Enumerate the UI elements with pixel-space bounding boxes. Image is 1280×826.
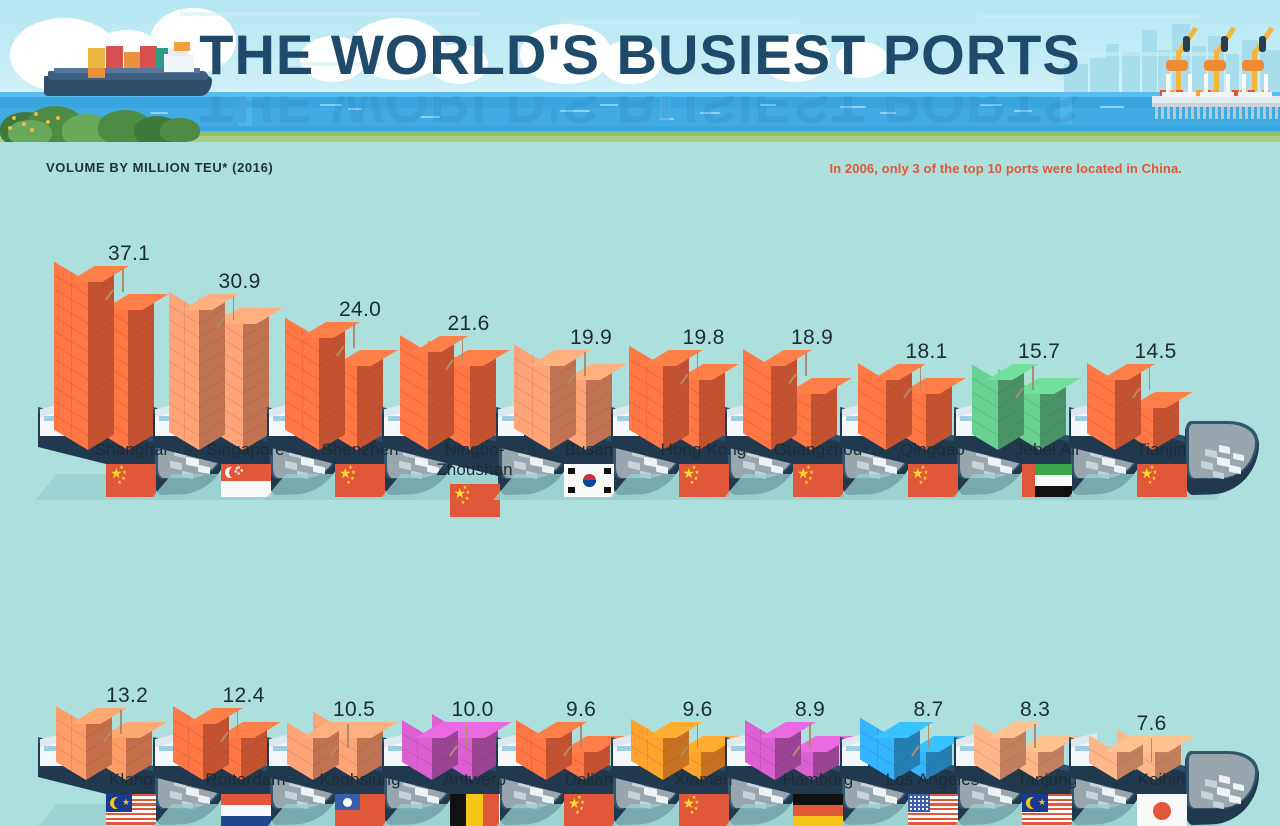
leader-line (233, 296, 235, 320)
container-seam (998, 406, 1024, 423)
container-seam (972, 406, 998, 423)
container-seam (886, 392, 912, 409)
container-seam (470, 420, 496, 437)
container-seam (550, 406, 576, 423)
container-seam (470, 392, 496, 409)
container-seam (858, 418, 886, 436)
flag-star (922, 804, 924, 806)
value-label: 19.8 (683, 326, 725, 350)
container-seam (428, 406, 454, 423)
container-seam (88, 322, 114, 339)
flag-band (221, 816, 271, 826)
container-seam (199, 322, 225, 339)
flag-star: ★ (575, 811, 580, 817)
flag-cn: ★★★★★ (1137, 464, 1187, 497)
flag-star (918, 800, 920, 802)
port-row-2: 13.2Klang★12.4Rotterdam10.5Kaohsiung10.0… (0, 508, 1280, 826)
container-seam (1153, 420, 1179, 437)
container-seam (546, 750, 572, 767)
container-top-face (299, 322, 360, 338)
container-seam (88, 364, 114, 381)
container-seam (470, 378, 496, 395)
port-name-label: Keihin (1067, 770, 1257, 790)
container-seam (313, 750, 339, 767)
flag-star (914, 804, 916, 806)
flag-band (221, 794, 271, 805)
container-seam (811, 406, 837, 423)
value-label: 8.9 (795, 698, 825, 722)
flag-star (926, 796, 928, 798)
container-seam (428, 392, 454, 409)
container-seam (428, 364, 454, 381)
container-seam (550, 392, 576, 409)
flag-star: ★ (117, 481, 122, 487)
leader-line (1034, 724, 1036, 748)
flag-star (914, 796, 916, 798)
leader-line (466, 724, 468, 748)
container-seam (663, 406, 689, 423)
container-seam (86, 750, 112, 767)
flag-star (922, 800, 924, 802)
container-top-face (413, 336, 468, 352)
leader-line (805, 352, 807, 376)
china-note: In 2006, only 3 of the top 10 ports were… (829, 161, 1182, 176)
container-seam (663, 420, 689, 437)
flag-star: ★ (235, 467, 239, 472)
container-seam (663, 378, 689, 395)
container-seam (432, 750, 458, 767)
container-top-face (871, 364, 926, 380)
volume-subtitle: VOLUME BY MILLION TEU* (2016) (46, 160, 273, 175)
container-seam (743, 404, 771, 422)
container-column (169, 302, 199, 458)
value-label: 10.5 (333, 698, 375, 722)
leader-line (580, 724, 582, 748)
page-title-reflection: THE WORLD'S BUSIEST PORTS (0, 96, 1280, 136)
flag-star: ★ (690, 481, 695, 487)
flag-sg: ★★★★★ (221, 464, 271, 497)
flag-stripe (106, 813, 156, 815)
container-seam (319, 392, 345, 409)
container-seam (972, 392, 998, 409)
container-seam (1040, 420, 1066, 437)
flag-band (221, 805, 271, 816)
container-seam (1115, 406, 1141, 423)
container-seam (428, 420, 454, 437)
flag-sun (1153, 802, 1171, 820)
flag-be (450, 794, 500, 826)
flag-stripe (1022, 822, 1072, 824)
container-seam (663, 392, 689, 409)
flag-cn: ★★★★★ (908, 464, 958, 497)
container-seam (532, 355, 533, 440)
flag-jp (1137, 794, 1187, 826)
container-seam (319, 364, 345, 381)
container-column (54, 274, 88, 458)
container-seam (203, 736, 229, 753)
flag-sun (343, 798, 352, 807)
value-label: 9.6 (683, 698, 713, 722)
container-seam (88, 336, 114, 353)
flag-my: ★ (106, 794, 156, 826)
container-seam (199, 350, 225, 367)
container-top-face (182, 294, 239, 310)
container-seam (71, 272, 72, 441)
value-label: 13.2 (106, 684, 148, 708)
container-seam (126, 750, 152, 767)
container-top-face (986, 364, 1039, 380)
container-seam (88, 392, 114, 409)
container-seam (1115, 420, 1141, 437)
flag-stripe (908, 818, 958, 820)
container-seam (1087, 418, 1115, 436)
container-front-face (400, 335, 428, 450)
leader-line (928, 724, 930, 748)
leader-line (122, 268, 124, 292)
container-seam (88, 350, 114, 367)
value-label: 7.6 (1137, 712, 1167, 736)
container-seam (199, 364, 225, 381)
flag-cn: ★★★★★ (793, 464, 843, 497)
flag-star (910, 808, 912, 810)
container-side-face (319, 323, 345, 451)
leader-line (809, 724, 811, 748)
value-label: 30.9 (219, 270, 261, 294)
flag-trigram (568, 487, 575, 493)
container-seam (699, 392, 725, 409)
flag-star (910, 800, 912, 802)
flag-nl (221, 794, 271, 826)
container-seam (771, 392, 797, 409)
container-seam (811, 420, 837, 437)
container-seam (646, 356, 647, 441)
container-seam (287, 750, 313, 767)
container-seam (199, 392, 225, 409)
container-seam (319, 350, 345, 367)
value-label: 9.6 (566, 698, 596, 722)
container-seam (886, 406, 912, 423)
value-label: 18.9 (791, 326, 833, 350)
flag-star: ★ (461, 501, 466, 507)
value-label: 37.1 (108, 242, 150, 266)
port-item-tianjin: 14.5Tianjin★★★★★ (1067, 178, 1257, 508)
leader-line (237, 710, 239, 734)
flag-band (450, 794, 467, 826)
container-seam (470, 406, 496, 423)
container-seam (743, 418, 771, 436)
container-seam (894, 750, 920, 767)
flag-ae (1022, 464, 1072, 497)
flag-stripe (106, 822, 156, 824)
container-top-face (68, 266, 129, 282)
container-seam (771, 406, 797, 423)
value-label: 19.9 (570, 326, 612, 350)
container-seam (88, 378, 114, 395)
leader-line (120, 710, 122, 734)
flag-cn: ★★★★★ (106, 464, 156, 497)
flag-star (926, 804, 928, 806)
flag-taegeuk (583, 480, 596, 487)
flag-stripe (1022, 813, 1072, 815)
flag-band (1022, 464, 1035, 497)
leader-line (353, 324, 355, 348)
container-seam (319, 378, 345, 395)
flag-cn: ★★★★★ (679, 794, 729, 826)
leader-line (920, 366, 922, 390)
flag-cn: ★★★★★ (335, 464, 385, 497)
port-item-keihin: 7.6Keihin (1067, 508, 1257, 826)
flag-star: ★ (122, 798, 130, 807)
container-seam (319, 406, 345, 423)
container-seam (88, 294, 114, 311)
value-label: 18.1 (906, 340, 948, 364)
container-seam (974, 750, 1000, 767)
container-seam (743, 376, 771, 394)
value-label: 8.3 (1020, 698, 1050, 722)
container-seam (998, 392, 1024, 409)
flag-stripe (908, 822, 958, 824)
container-seam (199, 378, 225, 395)
leader-line (1151, 738, 1153, 762)
container-seam (400, 418, 428, 436)
container-side-face (199, 295, 225, 451)
flag-band (793, 805, 843, 816)
flag-cn: ★★★★★ (679, 464, 729, 497)
flag-stripe (908, 813, 958, 815)
flag-star (926, 800, 928, 802)
value-label: 12.4 (223, 684, 265, 708)
flag-star (910, 804, 912, 806)
leader-line (584, 352, 586, 376)
container-seam (550, 420, 576, 437)
flag-band (466, 794, 483, 826)
port-row-1: 37.1Shanghai★★★★★30.9Singapore★★★★★24.0S… (0, 178, 1280, 508)
page-title: THE WORLD'S BUSIEST PORTS (0, 22, 1280, 87)
container-seam (1000, 750, 1026, 767)
value-label: 24.0 (339, 298, 381, 322)
flag-band (793, 816, 843, 826)
flag-us (908, 794, 958, 826)
flag-star: ★ (690, 811, 695, 817)
container-seam (86, 736, 112, 753)
container-seam (302, 328, 303, 441)
container-seam (926, 420, 952, 437)
infographic-root: THE WORLD'S BUSIEST PORTS THE WORLD'S BU… (0, 0, 1280, 826)
container-side-face (428, 337, 454, 451)
flag-band (221, 481, 271, 498)
container-seam (1115, 392, 1141, 409)
container-seam (1040, 406, 1066, 423)
flag-star (914, 800, 916, 802)
flag-star (926, 808, 928, 810)
flag-star: ★ (346, 481, 351, 487)
container-seam (972, 420, 998, 437)
flag-de (793, 794, 843, 826)
container-seam (319, 420, 345, 437)
container-seam (241, 750, 267, 767)
container-seam (203, 750, 229, 767)
container-seam (88, 308, 114, 325)
container-seam (88, 406, 114, 423)
flag-star: ★ (1148, 481, 1153, 487)
container-seam (663, 750, 689, 767)
container-seam (199, 420, 225, 437)
container-seam (771, 420, 797, 437)
container-top-face (757, 350, 812, 366)
container-seam (743, 390, 771, 408)
container-seam (926, 406, 952, 423)
value-label: 10.0 (452, 698, 494, 722)
container-seam (428, 378, 454, 395)
flag-stripe (1022, 818, 1072, 820)
flag-kr (564, 464, 614, 497)
value-label: 21.6 (448, 312, 490, 336)
flag-star (910, 796, 912, 798)
flag-star: ★ (1038, 798, 1046, 807)
sky-stripe (980, 14, 1200, 18)
container-seam (199, 336, 225, 353)
container-top-face (1100, 364, 1155, 380)
leader-line (697, 352, 699, 376)
port-name-label: Tianjin (1067, 440, 1257, 460)
container-front-face (54, 262, 88, 450)
flag-trigram (568, 468, 575, 474)
container-seam (699, 406, 725, 423)
flag-star (922, 796, 924, 798)
container-column (285, 330, 319, 458)
flag-cn: ★★★★★ (564, 794, 614, 826)
container-seam (775, 750, 801, 767)
container-seam (771, 378, 797, 395)
flag-star (918, 796, 920, 798)
leader-line (1149, 366, 1151, 390)
sky-stripe (180, 12, 480, 16)
leader-line (1032, 366, 1034, 390)
container-seam (550, 378, 576, 395)
flag-my: ★ (1022, 794, 1072, 826)
container-seam (699, 420, 725, 437)
container-seam (199, 406, 225, 423)
container-front-face (169, 292, 199, 450)
flag-star: ★ (804, 481, 809, 487)
flag-stripe (106, 818, 156, 820)
container-seam (184, 301, 185, 442)
leader-line (697, 724, 699, 748)
value-label: 15.7 (1018, 340, 1060, 364)
flag-star (918, 808, 920, 810)
container-seam (998, 420, 1024, 437)
leader-line (462, 338, 464, 362)
flag-star (922, 808, 924, 810)
value-label: 8.7 (914, 698, 944, 722)
container-seam (88, 420, 114, 437)
value-label: 14.5 (1135, 340, 1177, 364)
flag-star (914, 808, 916, 810)
flag-band (793, 794, 843, 805)
flag-star (918, 804, 920, 806)
leader-line (347, 724, 349, 748)
flag-star: ★ (919, 481, 924, 487)
flag-tw (335, 794, 385, 826)
container-seam (886, 420, 912, 437)
